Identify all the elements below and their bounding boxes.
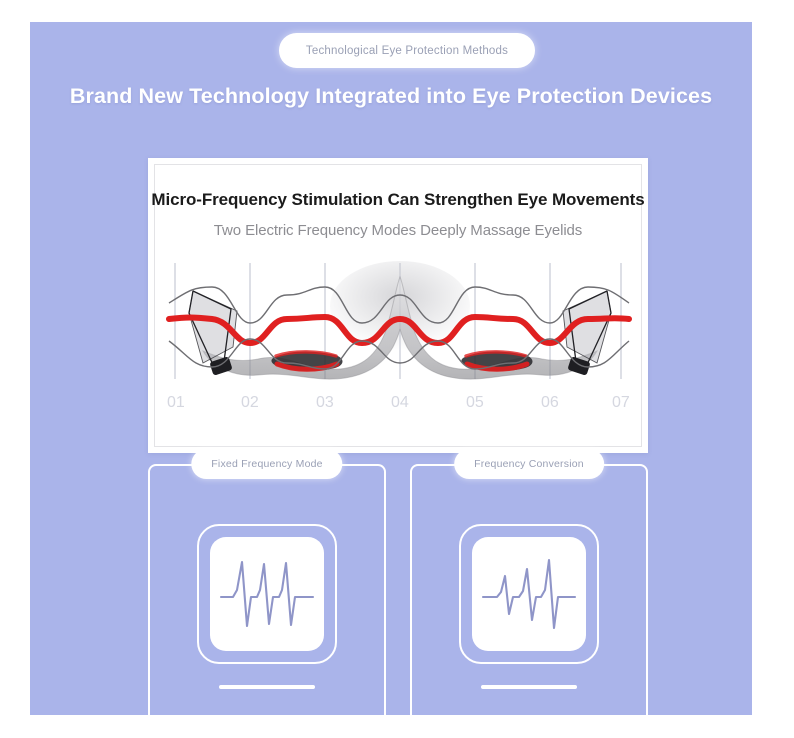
- chart-tick-03: 03: [316, 394, 334, 411]
- feature-card-title: Micro-Frequency Stimulation Can Strength…: [151, 190, 644, 210]
- mode-bar-frequency-conversion: [481, 685, 577, 689]
- feature-card-subtitle: Two Electric Frequency Modes Deeply Mass…: [214, 222, 582, 239]
- page-root: Technological Eye Protection Methods Bra…: [0, 0, 794, 738]
- chart-tick-labels: 01 02 03 04 05 06 07: [167, 394, 630, 411]
- chart-svg: 01 02 03 04 05 06 07: [163, 251, 633, 416]
- mode-cards-row: Fixed Frequency Mode Frequency Conversio…: [148, 464, 648, 715]
- mode-badge-label: Frequency Conversion: [474, 458, 584, 470]
- pulse-waveform-icon: [219, 552, 315, 636]
- icon-ring-fixed-frequency: [197, 524, 337, 664]
- icon-ring-frequency-conversion: [459, 524, 599, 664]
- page-title: Brand New Technology Integrated into Eye…: [30, 84, 752, 109]
- micro-frequency-chart: 01 02 03 04 05 06 07: [163, 251, 633, 416]
- mode-badge-frequency-conversion[interactable]: Frequency Conversion: [454, 449, 604, 479]
- chart-tick-01: 01: [167, 394, 185, 411]
- mode-card-fixed-frequency[interactable]: Fixed Frequency Mode: [148, 464, 386, 715]
- top-category-badge[interactable]: Technological Eye Protection Methods: [279, 33, 535, 68]
- icon-tile-frequency-conversion: [472, 537, 586, 651]
- mode-badge-fixed-frequency[interactable]: Fixed Frequency Mode: [191, 449, 342, 479]
- purple-panel: Technological Eye Protection Methods Bra…: [30, 22, 752, 715]
- mode-badge-label: Fixed Frequency Mode: [211, 458, 322, 470]
- chart-tick-07: 07: [612, 394, 630, 411]
- chart-tick-04: 04: [391, 394, 409, 411]
- variable-pulse-waveform-icon: [481, 552, 577, 636]
- feature-card: Micro-Frequency Stimulation Can Strength…: [148, 158, 648, 453]
- mode-card-frequency-conversion[interactable]: Frequency Conversion: [410, 464, 648, 715]
- chart-tick-02: 02: [241, 394, 259, 411]
- icon-tile-fixed-frequency: [210, 537, 324, 651]
- feature-card-inner: Micro-Frequency Stimulation Can Strength…: [154, 164, 642, 447]
- mode-bar-fixed-frequency: [219, 685, 315, 689]
- top-category-badge-label: Technological Eye Protection Methods: [306, 45, 508, 57]
- chart-tick-06: 06: [541, 394, 559, 411]
- chart-tick-05: 05: [466, 394, 484, 411]
